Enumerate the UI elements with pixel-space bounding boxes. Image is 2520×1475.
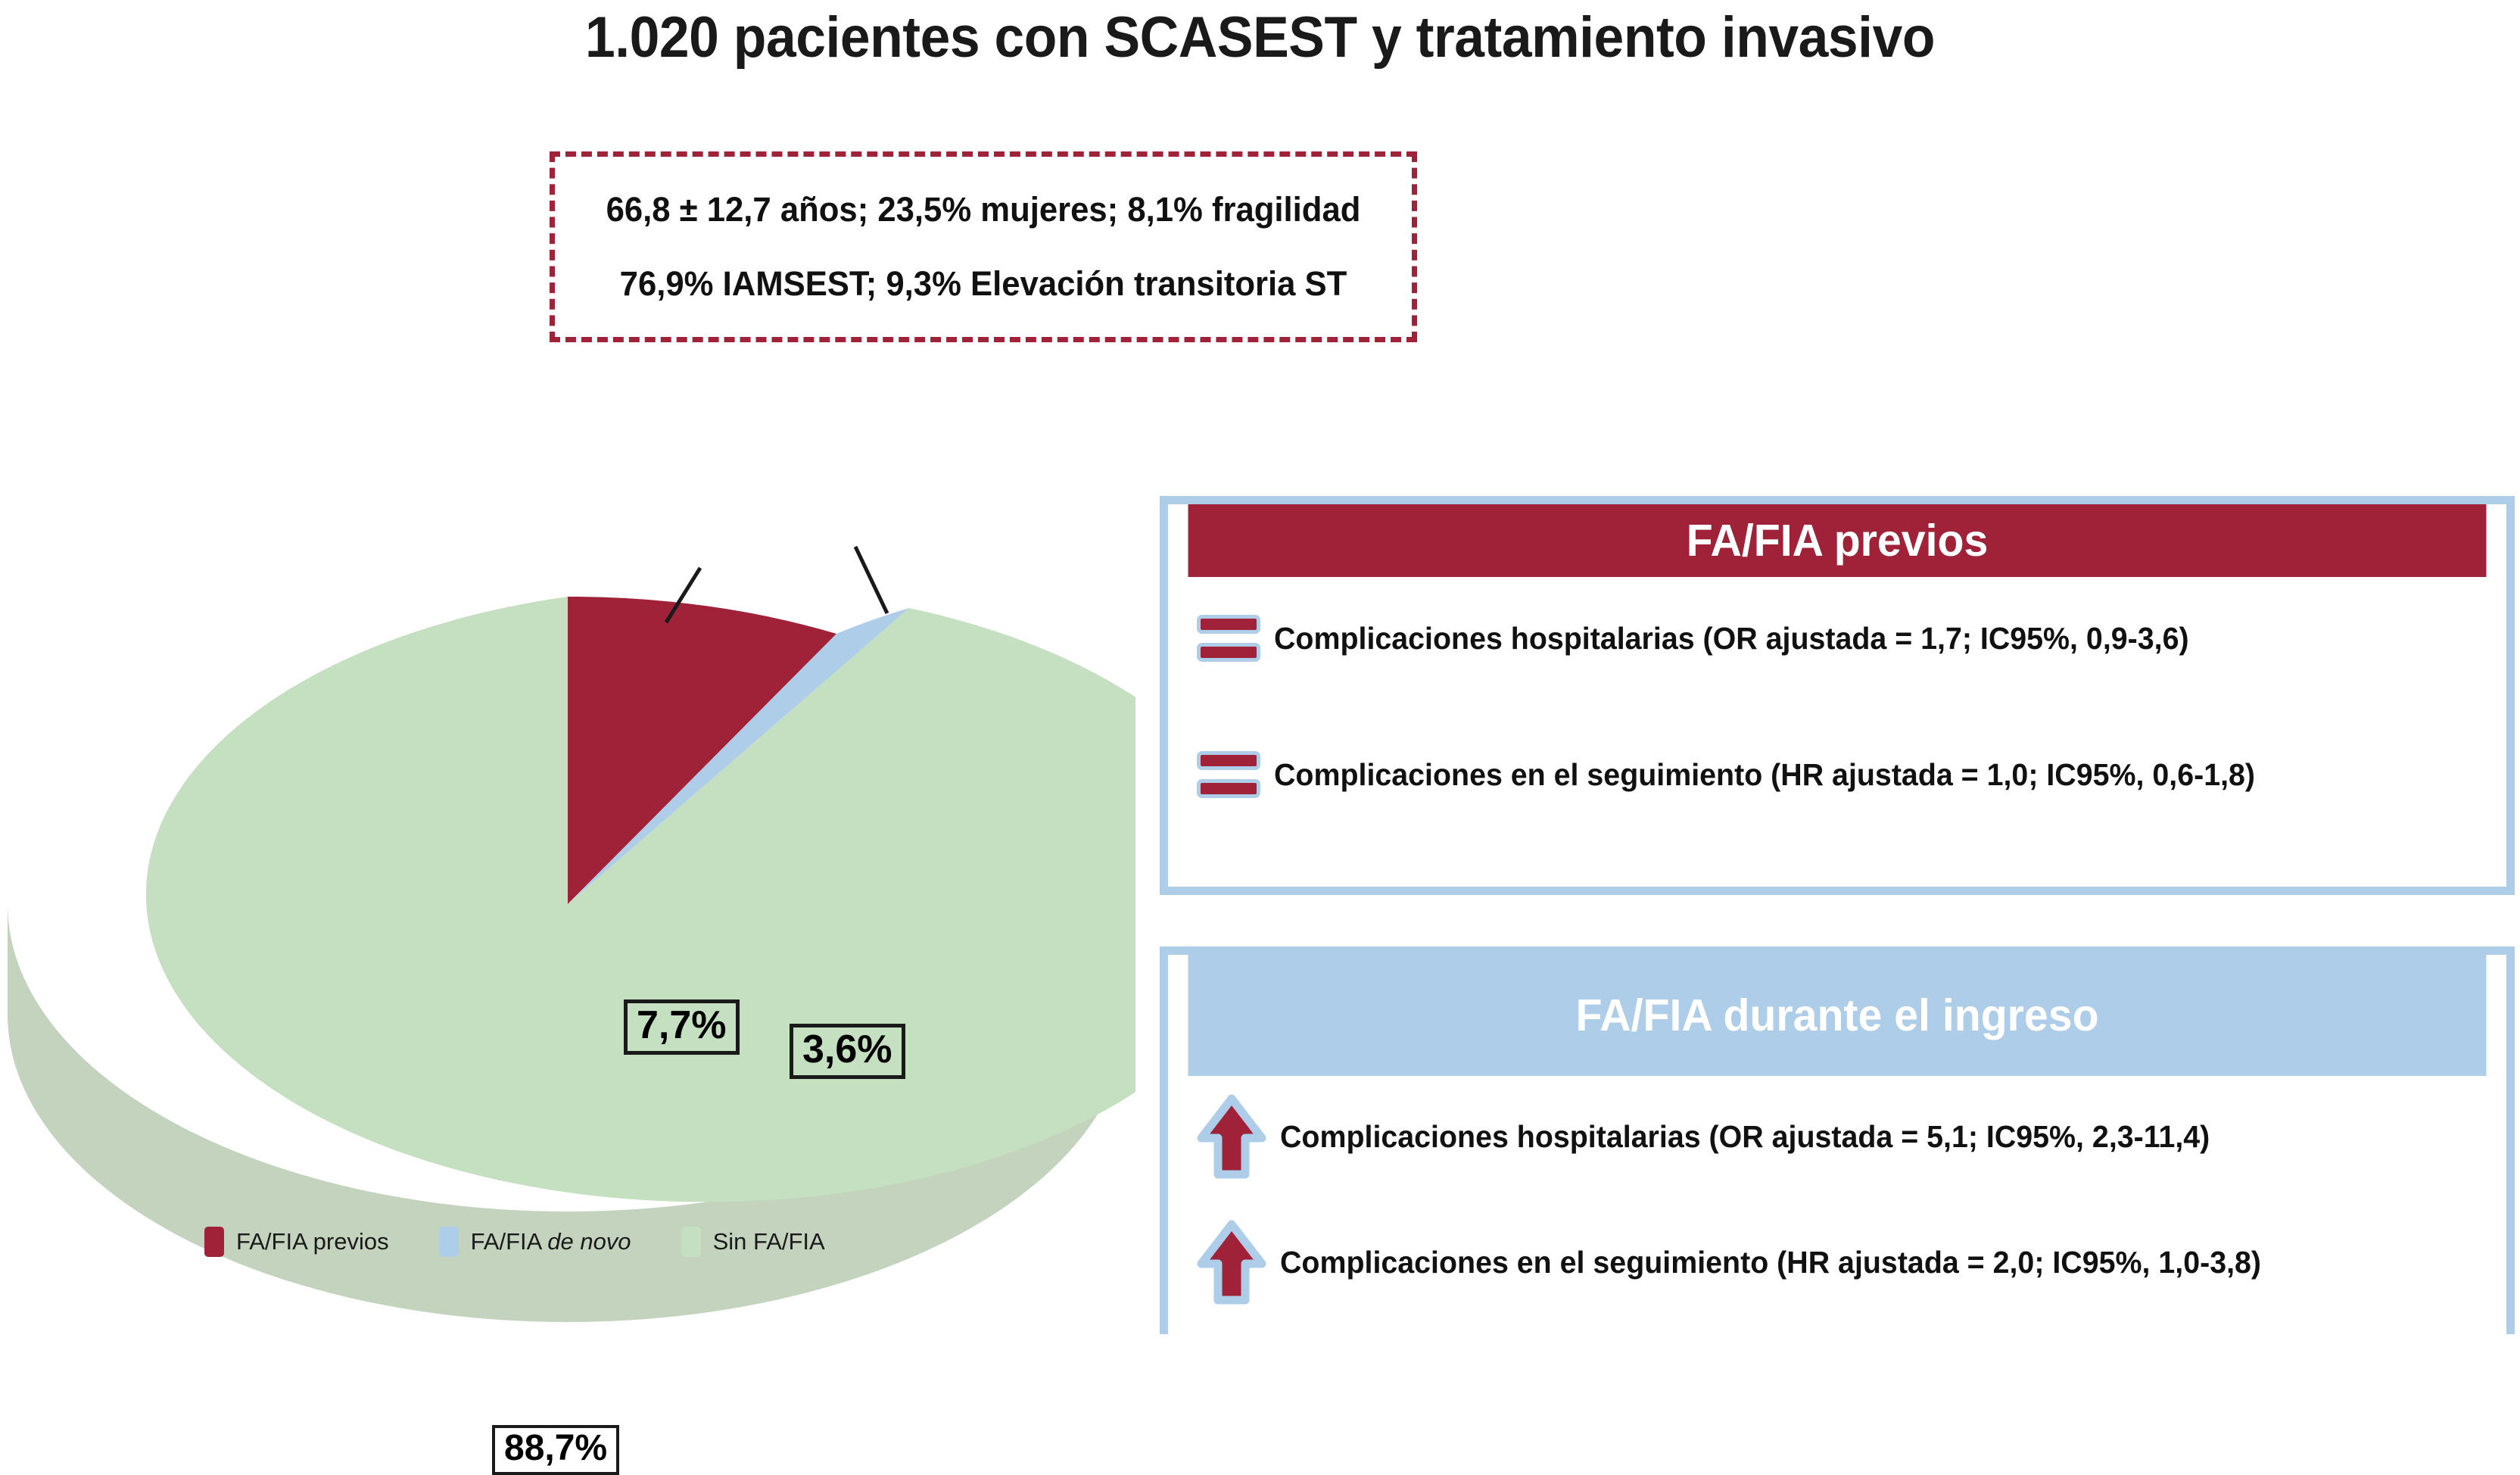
panel-body-ingreso: Complicaciones hospitalarias (OR ajustad… [1168,1076,2506,1334]
pie-chart-svg [0,530,1135,1333]
legend-item-previos: FA/FIA previos [204,1227,389,1257]
legend-label-previos: FA/FIA previos [236,1228,389,1255]
panel-header-previos: FA/FIA previos [1188,504,2487,577]
pie-chart-legend: FA/FIA previos FA/FIA de novo Sin FA/FIA [204,1227,825,1257]
pie-top-surface [146,597,1135,1202]
legend-item-de-novo: FA/FIA de novo [439,1227,631,1257]
legend-swatch-de-novo [439,1227,459,1257]
panel-header-ingreso: FA/FIA durante el ingreso [1188,955,2487,1076]
pie-value-label-de-novo: 3,6% [790,1024,905,1079]
legend-swatch-sin-fafia [681,1227,701,1257]
legend-item-sin-fafia: Sin FA/FIA [681,1227,825,1257]
panel-body-previos: Complicaciones hospitalarias (OR ajustad… [1168,577,2506,887]
stat-row-previos-hospital: Complicaciones hospitalarias (OR ajustad… [1197,615,2227,662]
stat-text-ingreso-hospital: Complicaciones hospitalarias (OR ajustad… [1280,1119,2210,1155]
arrow-up-icon [1197,1094,1266,1179]
legend-label-de-novo: FA/FIA de novo [471,1228,631,1255]
stat-row-ingreso-hospital: Complicaciones hospitalarias (OR ajustad… [1197,1094,2248,1179]
pie-value-label-previos: 7,7% [624,999,740,1055]
stat-row-ingreso-seguimiento: Complicaciones en el seguimiento (HR aju… [1197,1220,2302,1305]
pie-chart: 7,7% 3,6% 88,7% [0,530,1135,1333]
equals-icon [1197,751,1260,798]
stat-text-previos-hospital: Complicaciones hospitalarias (OR ajustad… [1274,621,2189,656]
patient-characteristics-box: 66,8 ± 12,7 años; 23,5% mujeres; 8,1% fr… [550,151,1417,342]
panel-fafia-previos: FA/FIA previos Complicaciones hospitalar… [1160,496,2515,895]
leader-line-de-novo [855,547,887,613]
stats-line-demographics: 66,8 ± 12,7 años; 23,5% mujeres; 8,1% fr… [597,190,1369,229]
pie-value-label-sin-fafia: 88,7% [492,1425,619,1475]
stats-line-diagnosis: 76,9% IAMSEST; 9,3% Elevación transitori… [597,264,1369,304]
panel-fafia-durante-ingreso: FA/FIA durante el ingreso Complicaciones… [1160,946,2515,1334]
stat-row-previos-seguimiento: Complicaciones en el seguimiento (HR aju… [1197,751,2296,798]
stat-text-ingreso-seguimiento: Complicaciones en el seguimiento (HR aju… [1280,1245,2261,1280]
page-title: 1.020 pacientes con SCASEST y tratamient… [76,5,2444,70]
stat-text-previos-seguimiento: Complicaciones en el seguimiento (HR aju… [1274,757,2255,793]
legend-swatch-previos [204,1227,224,1257]
legend-label-sin-fafia: Sin FA/FIA [713,1228,825,1255]
arrow-up-icon [1197,1220,1266,1305]
equals-icon [1197,615,1260,662]
